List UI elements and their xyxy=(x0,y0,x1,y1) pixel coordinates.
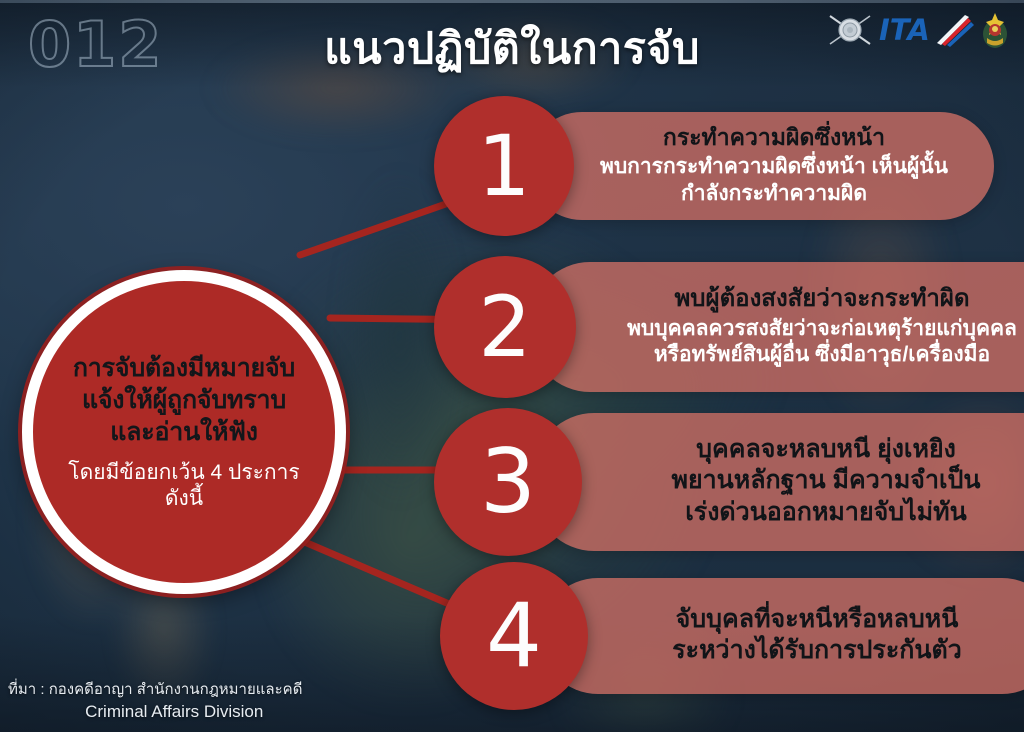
hub-circle: การจับต้องมีหมายจับ แจ้งให้ผู้ถูกจับทราบ… xyxy=(22,270,346,594)
item-body-line-2-1: พบบุคคลควรสงสัยว่าจะก่อเหตุร้ายแก่บุคคล xyxy=(627,316,1017,342)
item-pill-2: พบผู้ต้องสงสัยว่าจะกระทำผิด พบบุคคลควรสง… xyxy=(530,262,1024,392)
item-number-badge-4: 4 xyxy=(440,562,588,710)
item-title-2: พบผู้ต้องสงสัยว่าจะกระทำผิด xyxy=(674,284,969,314)
item-body-line-3-1: บุคคลจะหลบหนี ยุ่งเหยิง xyxy=(671,434,980,466)
item-pill-1: กระทำความผิดซึ่งหน้า พบการกระทำความผิดซึ… xyxy=(528,112,994,220)
hub-sub-text: โดยมีข้อยกเว้น 4 ประการ ดังนี้ xyxy=(68,460,299,513)
list-item: 3 บุคคลจะหลบหนี ยุ่งเหยิง พยานหลักฐาน มี… xyxy=(434,408,1024,556)
item-pill-4: จับบุคลที่จะหนีหรือหลบหนี ระหว่างได้รับก… xyxy=(540,578,1024,694)
item-number-3: 3 xyxy=(480,438,536,526)
svg-text:ITA: ITA xyxy=(879,13,930,47)
slide-canvas: 012 แนวปฏิบัติในการจับ ITA xyxy=(0,0,1024,732)
item-title-1: กระทำความผิดซึ่งหน้า xyxy=(663,123,885,152)
item-number-4: 4 xyxy=(486,592,542,680)
item-body-3: บุคคลจะหลบหนี ยุ่งเหยิง พยานหลักฐาน มีคว… xyxy=(671,434,980,529)
ita-logo-icon: ITA xyxy=(879,13,975,47)
list-item: 2 พบผู้ต้องสงสัยว่าจะกระทำผิด พบบุคคลควร… xyxy=(434,256,1024,398)
list-item: 4 จับบุคลที่จะหนีหรือหลบหนี ระหว่างได้รั… xyxy=(440,562,1024,710)
item-body-2: พบบุคคลควรสงสัยว่าจะก่อเหตุร้ายแก่บุคคล … xyxy=(627,316,1017,369)
hub-sub-line-2: ดังนี้ xyxy=(68,486,299,512)
source-text-th: ที่มา : กองคดีอาญา สำนักงานกฎหมายและคดี xyxy=(8,680,302,700)
item-body-1: พบการกระทำความผิดซึ่งหน้า เห็นผู้นั้น กำ… xyxy=(600,154,948,207)
item-number-badge-1: 1 xyxy=(434,96,574,236)
hub-main-text: การจับต้องมีหมายจับ แจ้งให้ผู้ถูกจับทราบ… xyxy=(73,352,295,448)
item-body-line-1-1: พบการกระทำความผิดซึ่งหน้า เห็นผู้นั้น xyxy=(600,154,948,180)
source-text-en: Criminal Affairs Division xyxy=(46,700,302,724)
item-body-line-4-1: จับบุคลที่จะหนีหรือหลบหนี xyxy=(672,604,962,636)
item-body-4: จับบุคลที่จะหนีหรือหลบหนี ระหว่างได้รับก… xyxy=(672,604,962,667)
source-attribution: ที่มา : กองคดีอาญา สำนักงานกฎหมายและคดี … xyxy=(8,680,302,724)
item-number-badge-2: 2 xyxy=(434,256,576,398)
hub-main-line-1: การจับต้องมีหมายจับ xyxy=(73,352,295,384)
item-body-line-2-2: หรือทรัพย์สินผู้อื่น ซึ่งมีอาวุธ/เครื่อง… xyxy=(627,342,1017,368)
hub-sub-line-1: โดยมีข้อยกเว้น 4 ประการ xyxy=(68,460,299,486)
item-body-line-3-3: เร่งด่วนออกหมายจับไม่ทัน xyxy=(671,497,980,529)
item-body-line-4-2: ระหว่างได้รับการประกันตัว xyxy=(672,635,962,667)
item-number-2: 2 xyxy=(478,285,531,369)
item-body-line-3-2: พยานหลักฐาน มีความจำเป็น xyxy=(671,465,980,497)
nacc-emblem-icon xyxy=(828,10,872,50)
item-number-badge-3: 3 xyxy=(434,408,582,556)
item-body-line-1-2: กำลังกระทำความผิด xyxy=(600,181,948,207)
hub-main-line-3: และอ่านให้ฟัง xyxy=(73,416,295,448)
hub-main-line-2: แจ้งให้ผู้ถูกจับทราบ xyxy=(73,384,295,416)
garuda-emblem-icon xyxy=(982,10,1008,50)
list-item: 1 กระทำความผิดซึ่งหน้า พบการกระทำความผิด… xyxy=(434,96,994,236)
logo-bar: ITA xyxy=(828,7,1008,53)
item-number-1: 1 xyxy=(477,124,530,208)
item-pill-3: บุคคลจะหลบหนี ยุ่งเหยิง พยานหลักฐาน มีคว… xyxy=(534,413,1024,551)
